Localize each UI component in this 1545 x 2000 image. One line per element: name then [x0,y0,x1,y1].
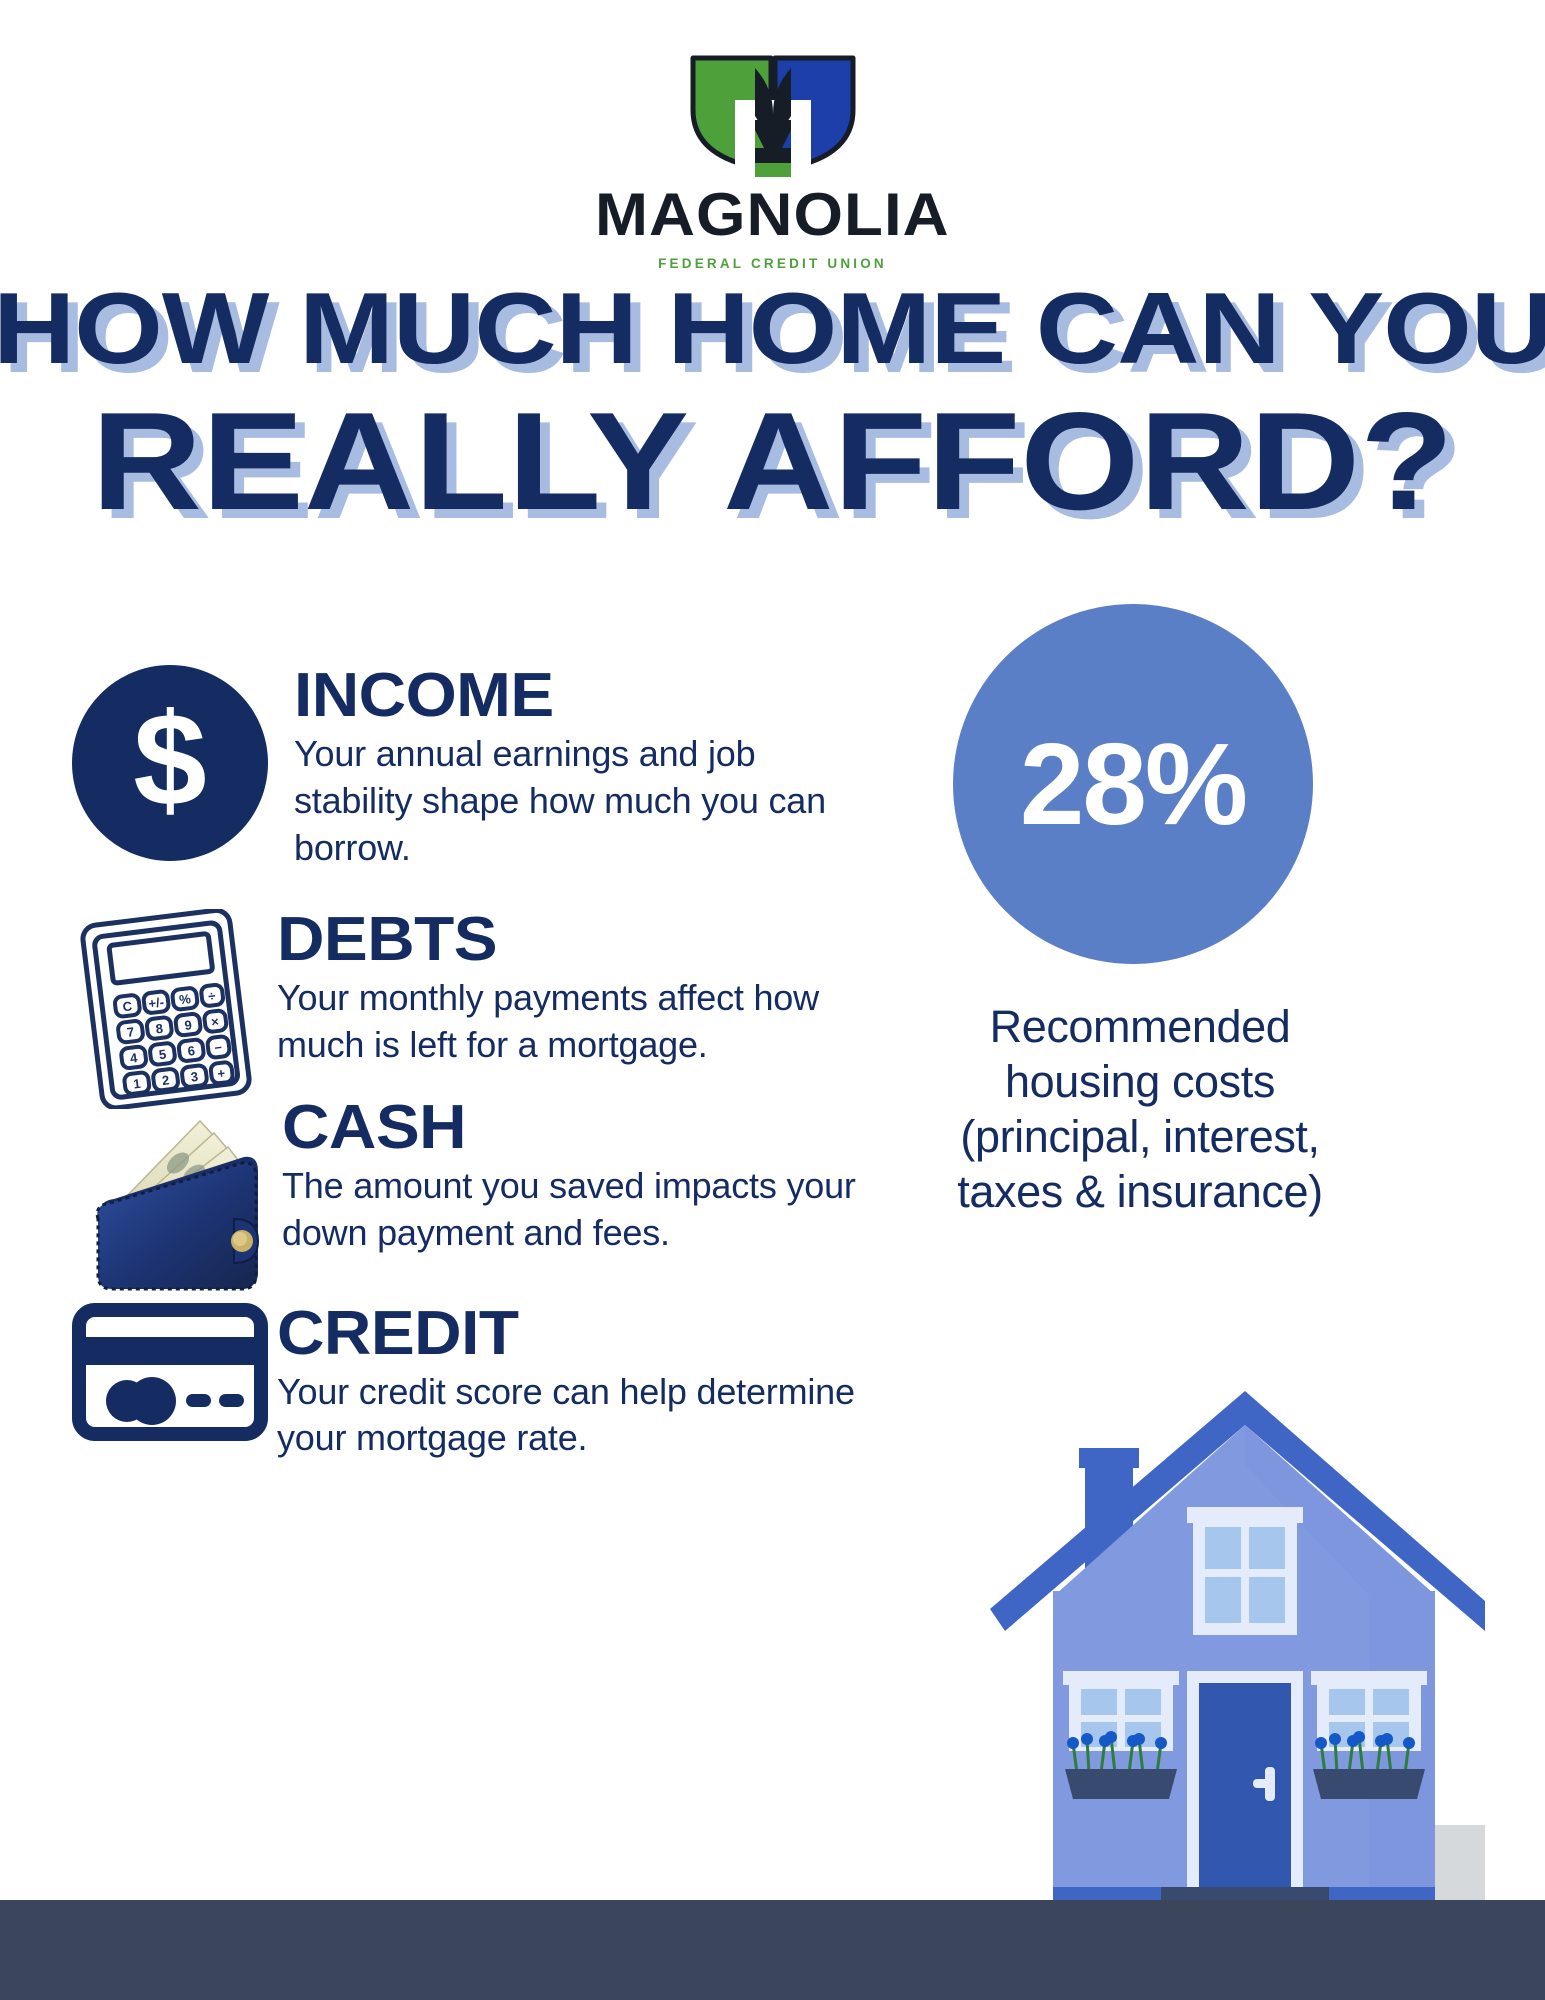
svg-text:8: 8 [155,1021,164,1037]
list-item: CASH The amount you saved impacts your d… [72,1097,872,1257]
factor-text: Your annual earnings and job stability s… [294,731,872,871]
stat-caption: Recommended housing costs (principal, in… [940,1000,1340,1220]
svg-text:1: 1 [132,1076,141,1092]
svg-text:C: C [122,999,134,1015]
brand-wordmark: MAGNOLIA [595,185,950,245]
calculator-icon: C +/- % ÷ 7 8 9 × 4 5 6 − 1 2 3 [72,909,262,1109]
factors-list: $ INCOME Your annual earnings and job st… [72,665,872,1466]
credit-card-icon [72,1303,268,1441]
factor-text: Your monthly payments affect how much is… [277,975,872,1069]
factor-title: CREDIT [277,1303,908,1365]
factor-title: INCOME [294,665,907,727]
svg-text:6: 6 [187,1043,196,1059]
headline-line-2: REALLY AFFORD? [0,398,1545,526]
factor-title: DEBTS [277,909,908,971]
headline-line-1: HOW MUCH HOME CAN YOU [0,283,1545,376]
list-item: C +/- % ÷ 7 8 9 × 4 5 6 − 1 2 3 [72,909,872,1069]
svg-text:4: 4 [129,1050,139,1066]
svg-text:2: 2 [161,1073,170,1089]
footer-bar [0,1900,1545,2000]
factor-title: CASH [282,1097,907,1159]
page-title: HOW MUCH HOME CAN YOU REALLY AFFORD? [0,283,1545,526]
house-illustration [965,1355,1485,1945]
svg-text:−: − [213,1040,223,1056]
svg-text:+: + [217,1066,227,1082]
dollar-coin-icon: $ [72,665,268,861]
wallet-cash-icon [72,1097,272,1297]
svg-text:3: 3 [190,1069,199,1085]
factor-text: The amount you saved impacts your down p… [282,1163,872,1257]
stat-value: 28% [1020,717,1246,851]
factor-text: Your credit score can help determine you… [277,1369,872,1463]
svg-text:×: × [210,1014,220,1030]
svg-text:%: % [178,991,192,1007]
svg-text:9: 9 [184,1018,193,1034]
magnolia-shield-icon [687,52,859,177]
svg-text:5: 5 [158,1047,167,1063]
svg-text:+/-: +/- [148,995,165,1012]
svg-text:÷: ÷ [207,988,216,1004]
brand-logo: MAGNOLIA FEDERAL CREDIT UNION [0,52,1545,271]
svg-text:7: 7 [126,1025,135,1041]
brand-tagline: FEDERAL CREDIT UNION [658,256,887,271]
list-item: $ INCOME Your annual earnings and job st… [72,665,872,871]
stat-circle: 28% [953,604,1313,964]
list-item: CREDIT Your credit score can help determ… [72,1303,872,1463]
